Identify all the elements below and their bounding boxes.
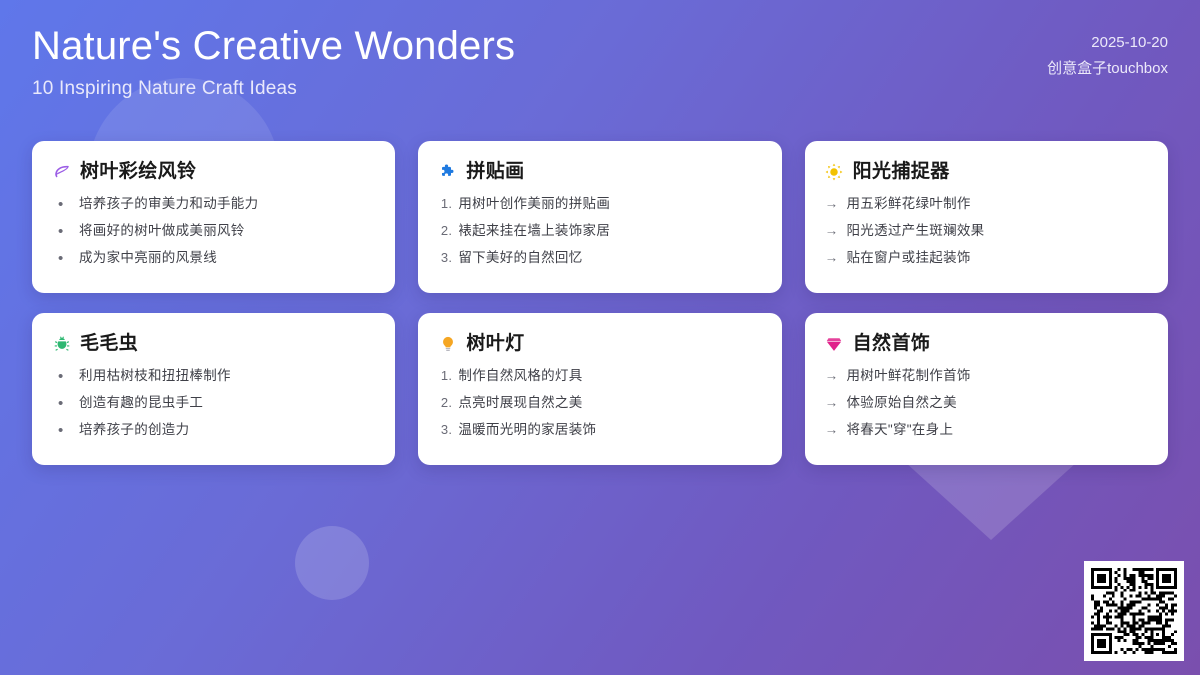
background-circle-bottom — [295, 526, 369, 600]
card-list-item: 1.用树叶创作美丽的拼贴画 — [438, 196, 761, 213]
card-list-item: •创造有趣的昆虫手工 — [52, 395, 375, 412]
lightbulb-icon — [438, 335, 457, 354]
card-title: 自然首饰 — [853, 333, 931, 356]
card-header: 阳光捕捉器 — [825, 161, 1148, 184]
card-list-item-text: 利用枯树枝和扭扭棒制作 — [79, 368, 375, 385]
card-item-list: 1.制作自然风格的灯具2.点亮时展现自然之美3.温暖而光明的家居装饰 — [438, 368, 761, 439]
card-title: 树叶彩绘风铃 — [80, 161, 196, 184]
card-list-item-text: 贴在窗户或挂起装饰 — [846, 250, 1148, 267]
puzzle-icon — [438, 163, 457, 182]
card-item-list: →用五彩鲜花绿叶制作→阳光透过产生斑斓效果→贴在窗户或挂起装饰 — [825, 196, 1148, 267]
list-marker-bullet: • — [58, 251, 68, 266]
card-list-item: →用五彩鲜花绿叶制作 — [825, 196, 1148, 213]
craft-card[interactable]: 拼贴画1.用树叶创作美丽的拼贴画2.裱起来挂在墙上装饰家居3.留下美好的自然回忆 — [418, 141, 781, 293]
arrow-icon: → — [825, 223, 839, 240]
list-marker-number: 2. — [438, 395, 452, 411]
list-marker-number: 1. — [438, 196, 452, 212]
page-title: Nature's Creative Wonders — [32, 22, 515, 70]
qr-code[interactable] — [1084, 561, 1184, 661]
arrow-icon: → — [825, 422, 839, 439]
list-marker-bullet: • — [58, 197, 68, 212]
card-list-item: 2.点亮时展现自然之美 — [438, 395, 761, 412]
card-list-item-text: 留下美好的自然回忆 — [458, 250, 761, 267]
leaf-icon — [52, 163, 71, 182]
card-item-list: 1.用树叶创作美丽的拼贴画2.裱起来挂在墙上装饰家居3.留下美好的自然回忆 — [438, 196, 761, 267]
card-list-item-text: 用五彩鲜花绿叶制作 — [846, 196, 1148, 213]
card-header: 毛毛虫 — [52, 333, 375, 356]
list-marker-number: 3. — [438, 250, 452, 266]
list-marker-bullet: • — [58, 396, 68, 411]
card-list-item-text: 制作自然风格的灯具 — [458, 368, 761, 385]
card-header: 拼贴画 — [438, 161, 761, 184]
card-list-item: •培养孩子的创造力 — [52, 422, 375, 439]
card-item-list: →用树叶鲜花制作首饰→体验原始自然之美→将春天"穿"在身上 — [825, 368, 1148, 439]
card-list-item-text: 用树叶鲜花制作首饰 — [846, 368, 1148, 385]
page-subtitle: 10 Inspiring Nature Craft Ideas — [32, 78, 515, 100]
card-list-item-text: 成为家中亮丽的风景线 — [79, 250, 375, 267]
card-list-item: 1.制作自然风格的灯具 — [438, 368, 761, 385]
card-list-item: →贴在窗户或挂起装饰 — [825, 250, 1148, 267]
card-list-item-text: 将画好的树叶做成美丽风铃 — [79, 223, 375, 240]
list-marker-number: 3. — [438, 422, 452, 438]
craft-card[interactable]: 树叶彩绘风铃•培养孩子的审美力和动手能力•将画好的树叶做成美丽风铃•成为家中亮丽… — [32, 141, 395, 293]
list-marker-number: 1. — [438, 368, 452, 384]
card-list-item: •将画好的树叶做成美丽风铃 — [52, 223, 375, 240]
card-list-item-text: 培养孩子的审美力和动手能力 — [79, 196, 375, 213]
card-list-item-text: 将春天"穿"在身上 — [846, 422, 1148, 439]
card-list-item-text: 裱起来挂在墙上装饰家居 — [458, 223, 761, 240]
bug-icon — [52, 335, 71, 354]
background-triangle — [905, 462, 1077, 540]
craft-card[interactable]: 树叶灯1.制作自然风格的灯具2.点亮时展现自然之美3.温暖而光明的家居装饰 — [418, 313, 781, 465]
card-list-item: 3.留下美好的自然回忆 — [438, 250, 761, 267]
card-header: 树叶彩绘风铃 — [52, 161, 375, 184]
gem-icon — [825, 335, 844, 354]
card-list-item: 3.温暖而光明的家居装饰 — [438, 422, 761, 439]
card-list-item-text: 温暖而光明的家居装饰 — [458, 422, 761, 439]
card-title: 毛毛虫 — [80, 333, 138, 356]
card-list-item-text: 点亮时展现自然之美 — [458, 395, 761, 412]
card-list-item-text: 用树叶创作美丽的拼贴画 — [458, 196, 761, 213]
card-header: 树叶灯 — [438, 333, 761, 356]
card-list-item: →体验原始自然之美 — [825, 395, 1148, 412]
slide-header: Nature's Creative Wonders 10 Inspiring N… — [32, 22, 515, 100]
card-item-list: •培养孩子的审美力和动手能力•将画好的树叶做成美丽风铃•成为家中亮丽的风景线 — [52, 196, 375, 267]
card-title: 拼贴画 — [466, 161, 524, 184]
date-label: 2025-10-20 — [1047, 30, 1168, 56]
list-marker-bullet: • — [58, 224, 68, 239]
card-title: 树叶灯 — [466, 333, 524, 356]
craft-card[interactable]: 阳光捕捉器→用五彩鲜花绿叶制作→阳光透过产生斑斓效果→贴在窗户或挂起装饰 — [805, 141, 1168, 293]
card-list-item: •培养孩子的审美力和动手能力 — [52, 196, 375, 213]
header-meta: 2025-10-20 创意盒子touchbox — [1047, 30, 1168, 83]
craft-card[interactable]: 自然首饰→用树叶鲜花制作首饰→体验原始自然之美→将春天"穿"在身上 — [805, 313, 1168, 465]
card-list-item: →用树叶鲜花制作首饰 — [825, 368, 1148, 385]
list-marker-bullet: • — [58, 369, 68, 384]
card-list-item-text: 阳光透过产生斑斓效果 — [846, 223, 1148, 240]
qr-code-image — [1091, 568, 1177, 654]
card-list-item-text: 体验原始自然之美 — [846, 395, 1148, 412]
arrow-icon: → — [825, 368, 839, 385]
card-list-item: 2.裱起来挂在墙上装饰家居 — [438, 223, 761, 240]
brand-label: 创意盒子touchbox — [1047, 56, 1168, 82]
arrow-icon: → — [825, 250, 839, 267]
arrow-icon: → — [825, 395, 839, 412]
card-list-item: →阳光透过产生斑斓效果 — [825, 223, 1148, 240]
arrow-icon: → — [825, 196, 839, 213]
card-grid: 树叶彩绘风铃•培养孩子的审美力和动手能力•将画好的树叶做成美丽风铃•成为家中亮丽… — [32, 141, 1168, 465]
card-item-list: •利用枯树枝和扭扭棒制作•创造有趣的昆虫手工•培养孩子的创造力 — [52, 368, 375, 439]
card-list-item: •利用枯树枝和扭扭棒制作 — [52, 368, 375, 385]
card-list-item-text: 创造有趣的昆虫手工 — [79, 395, 375, 412]
card-title: 阳光捕捉器 — [853, 161, 950, 184]
sun-icon — [825, 163, 844, 182]
card-header: 自然首饰 — [825, 333, 1148, 356]
list-marker-bullet: • — [58, 423, 68, 438]
craft-card[interactable]: 毛毛虫•利用枯树枝和扭扭棒制作•创造有趣的昆虫手工•培养孩子的创造力 — [32, 313, 395, 465]
card-list-item-text: 培养孩子的创造力 — [79, 422, 375, 439]
list-marker-number: 2. — [438, 223, 452, 239]
card-list-item: →将春天"穿"在身上 — [825, 422, 1148, 439]
card-list-item: •成为家中亮丽的风景线 — [52, 250, 375, 267]
